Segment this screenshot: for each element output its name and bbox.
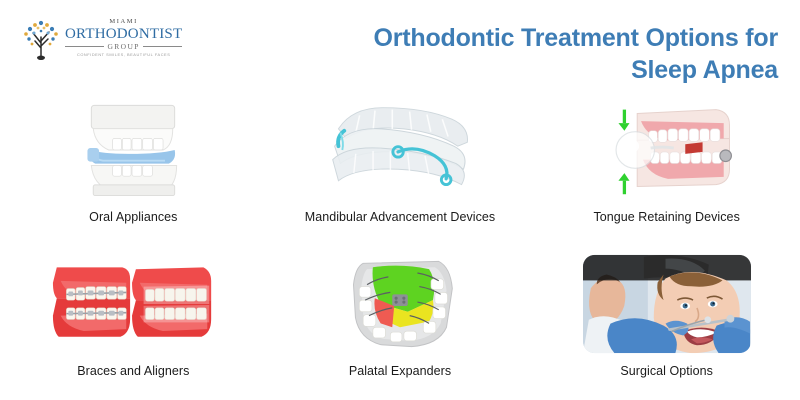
- item-caption: Mandibular Advancement Devices: [305, 210, 496, 224]
- grid-item-tongue-retaining[interactable]: Tongue Retaining Devices: [533, 92, 800, 246]
- item-caption: Oral Appliances: [89, 210, 177, 224]
- header: MIAMI ORTHODONTIST GROUP CONFIDENT SMILE…: [0, 0, 800, 92]
- grid-item-palatal-expanders[interactable]: Palatal Expanders: [267, 246, 534, 400]
- braces-aligner-models-icon: [0, 252, 267, 356]
- brand-logo[interactable]: MIAMI ORTHODONTIST GROUP CONFIDENT SMILE…: [18, 10, 163, 66]
- item-caption: Palatal Expanders: [349, 364, 451, 378]
- item-caption: Surgical Options: [620, 364, 713, 378]
- page-title: Orthodontic Treatment Options for Sleep …: [308, 22, 778, 86]
- logo-rule-right: [143, 46, 182, 47]
- item-caption: Braces and Aligners: [77, 364, 189, 378]
- treatment-options-grid: Oral Appliances: [0, 92, 800, 400]
- logo-group-row: GROUP: [65, 43, 182, 51]
- arrow-up: [618, 173, 629, 194]
- logo-top-line: MIAMI: [109, 19, 138, 26]
- logo-rule-left: [65, 46, 104, 47]
- dental-surgery-photo-icon: [533, 252, 800, 356]
- logo-tagline: CONFIDENT SMILES, BEAUTIFUL FACES: [77, 53, 170, 57]
- item-caption: Tongue Retaining Devices: [593, 210, 739, 224]
- mandibular-device-icon: [267, 98, 534, 202]
- grid-item-mandibular-advancement[interactable]: Mandibular Advancement Devices: [267, 92, 534, 246]
- tongue-retaining-model-icon: [533, 98, 800, 202]
- grid-item-braces-aligners[interactable]: Braces and Aligners: [0, 246, 267, 400]
- palatal-expander-model-icon: [267, 252, 534, 356]
- grid-item-surgical-options[interactable]: Surgical Options: [533, 246, 800, 400]
- heart-tree-logo-icon: [18, 13, 64, 63]
- page-title-line-1: Orthodontic Treatment Options for: [308, 22, 778, 54]
- logo-name: ORTHODONTIST: [65, 27, 182, 42]
- oral-appliance-model-icon: [0, 98, 267, 202]
- infographic-canvas: MIAMI ORTHODONTIST GROUP CONFIDENT SMILE…: [0, 0, 800, 400]
- arrow-down: [618, 110, 629, 131]
- logo-group-word: GROUP: [104, 43, 142, 51]
- page-title-line-2: Sleep Apnea: [308, 54, 778, 86]
- grid-item-oral-appliances[interactable]: Oral Appliances: [0, 92, 267, 246]
